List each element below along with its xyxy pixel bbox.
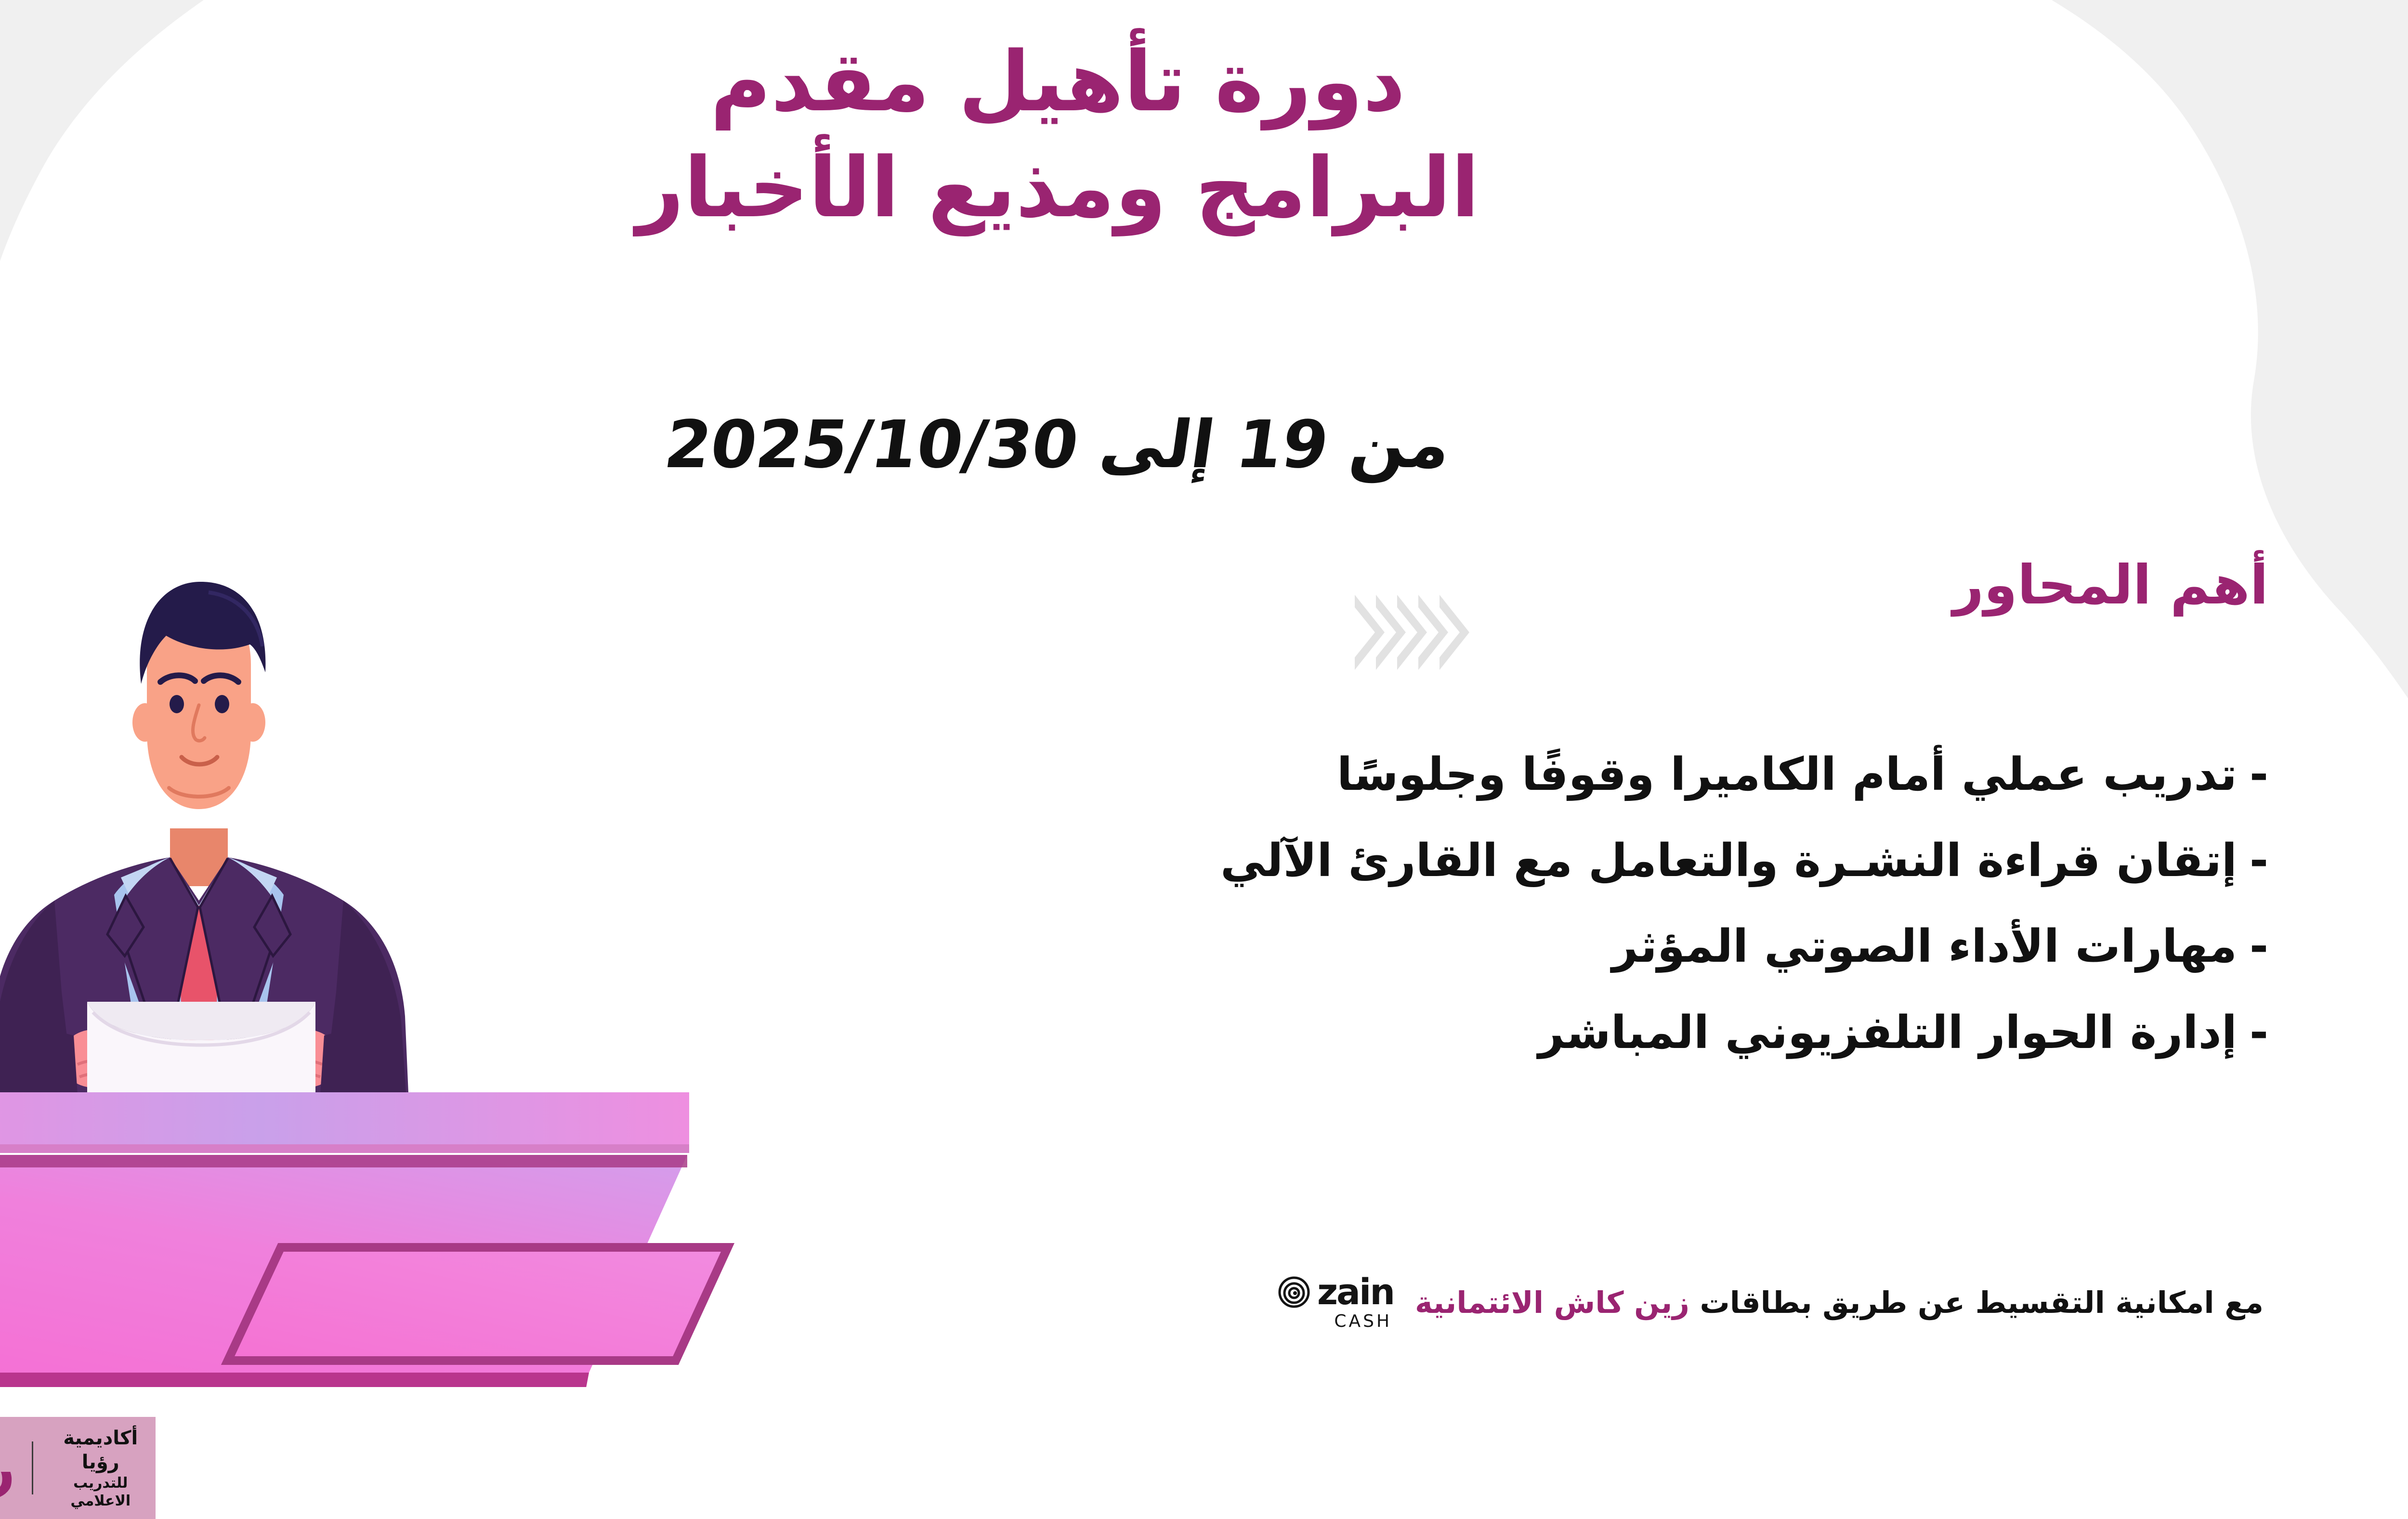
zain-cash-logo: zain CASH	[1276, 1274, 1394, 1331]
academy-name-arabic-line1: أكاديمية رؤيا	[46, 1426, 156, 1474]
news-presenter-illustration	[0, 520, 1008, 1387]
roya-script-logo: رؤيا	[0, 1441, 19, 1495]
list-item-label: مهارات الأداء الصوتي المؤثر	[1612, 923, 2237, 971]
academy-name-arabic-line2: للتدريب الاعلامي	[46, 1474, 156, 1510]
list-item-label: إتقان قراءة النشـرة والتعامل مع القارئ ا…	[1220, 838, 2237, 885]
news-desk	[0, 1092, 728, 1387]
list-item-label: تدريب عملي أمام الكاميرا وقوفًا وجلوسًا	[1337, 751, 2237, 799]
section-heading-topics: أهم المحاور	[1953, 554, 2268, 616]
topics-list: - تدريب عملي أمام الكاميرا وقوفًا وجلوسً…	[1016, 751, 2268, 1096]
list-item: - إتقان قراءة النشـرة والتعامل مع القارئ…	[1016, 838, 2268, 885]
zain-cash-sublabel: CASH	[1334, 1311, 1392, 1331]
zain-wordmark: zain	[1317, 1277, 1394, 1308]
course-date-range: من 19 إلى 2025/10/30	[0, 407, 2408, 483]
academy-name-arabic: أكاديمية رؤيا للتدريب الاعلامي	[46, 1426, 156, 1510]
list-item: - مهارات الأداء الصوتي المؤثر	[1016, 923, 2268, 971]
payment-note-text: مع امكانية التقسيط عن طريق بطاقات زين كا…	[1415, 1285, 2264, 1320]
bullet-dash: -	[2250, 751, 2268, 799]
list-item: - إدارة الحوار التلفزيوني المباشر	[1016, 1009, 2268, 1057]
chevron-right-icon	[1355, 595, 1385, 670]
zain-spiral-icon	[1276, 1274, 1312, 1310]
list-item-label: إدارة الحوار التلفزيوني المباشر	[1538, 1009, 2237, 1057]
logo-divider	[32, 1441, 33, 1494]
title-line-1: دورة تأهيل مقدم	[0, 29, 2408, 135]
list-item: - تدريب عملي أمام الكاميرا وقوفًا وجلوسً…	[1016, 751, 2268, 799]
chevron-decoration-right	[1355, 595, 1461, 670]
payment-note: مع امكانية التقسيط عن طريق بطاقات زين كا…	[1276, 1274, 2264, 1331]
footer-logo-bar: أكاديمية رؤيا للتدريب الاعلامي رؤيا ROYA…	[0, 1417, 156, 1519]
bullet-dash: -	[2250, 923, 2268, 971]
title-line-2: البرامج ومذيع الأخبار	[0, 135, 2408, 241]
page-title: دورة تأهيل مقدم البرامج ومذيع الأخبار	[0, 29, 2408, 241]
presenter-figure	[0, 582, 408, 1094]
payment-note-prefix: مع امكانية التقسيط عن طريق بطاقات	[1689, 1285, 2264, 1320]
payment-brand-name: زين كاش الائتمانية	[1415, 1285, 1689, 1320]
bullet-dash: -	[2250, 1009, 2268, 1057]
bullet-dash: -	[2250, 838, 2268, 885]
poster-canvas: دورة تأهيل مقدم البرامج ومذيع الأخبار من…	[0, 0, 2408, 1519]
